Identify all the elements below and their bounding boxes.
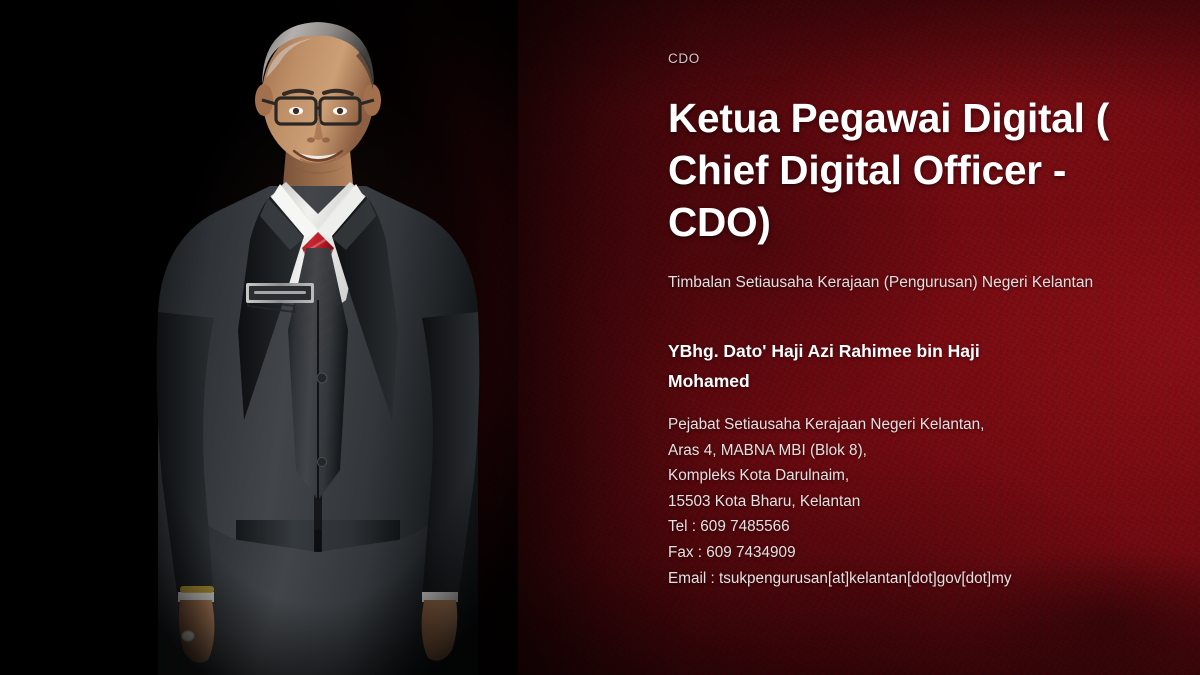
telephone-line: Tel : 609 7485566	[668, 514, 1012, 540]
portrait-illustration	[118, 0, 518, 675]
eyebrow-label: CDO	[668, 51, 700, 66]
address-line: Aras 4, MABNA MBI (Blok 8),	[668, 438, 1012, 464]
fax-line: Fax : 609 7434909	[668, 540, 1012, 566]
email-line: Email : tsukpengurusan[at]kelantan[dot]g…	[668, 566, 1012, 592]
person-name: YBhg. Dato' Haji Azi Rahimee bin Haji Mo…	[668, 336, 1048, 396]
address-line: 15503 Kota Bharu, Kelantan	[668, 489, 1012, 515]
role-subtitle: Timbalan Setiausaha Kerajaan (Pengurusan…	[668, 272, 1093, 294]
page-title: Ketua Pegawai Digital ( Chief Digital Of…	[668, 92, 1138, 248]
contact-block: Pejabat Setiausaha Kerajaan Negeri Kelan…	[668, 412, 1012, 591]
address-line: Kompleks Kota Darulnaim,	[668, 463, 1012, 489]
portrait-photo	[118, 0, 518, 675]
hero-banner: CDO Ketua Pegawai Digital ( Chief Digita…	[0, 0, 1200, 675]
info-column: CDO Ketua Pegawai Digital ( Chief Digita…	[668, 0, 1146, 675]
address-line: Pejabat Setiausaha Kerajaan Negeri Kelan…	[668, 412, 1012, 438]
